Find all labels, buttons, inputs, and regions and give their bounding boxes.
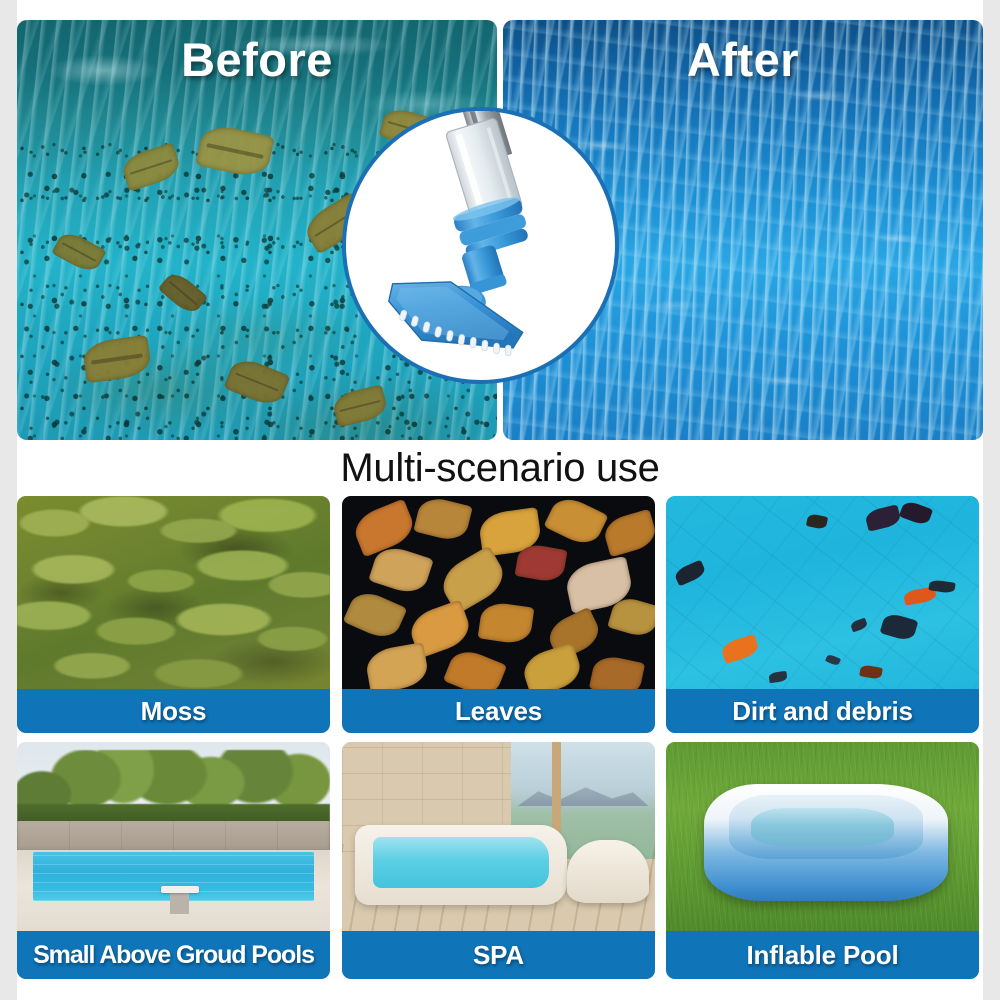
concrete-wall [17,821,330,851]
pool-basin-water [751,808,895,846]
scenario-caption: SPA [342,931,655,979]
scenario-caption: Moss [17,689,330,733]
leaves-scene [342,496,655,689]
freestanding-bathtub [567,840,648,902]
scenario-thumbnail [666,496,979,689]
scenario-thumbnail [17,742,330,931]
scenario-caption: Small Above Groud Pools [17,931,330,979]
pool-vacuum-icon [346,111,615,380]
scenario-card-small-above-ground-pools[interactable]: Small Above Groud Pools [17,742,330,979]
scenario-thumbnail [342,742,655,931]
scenario-thumbnail [17,496,330,689]
scenario-grid: Moss [17,496,983,980]
scenario-card-leaves[interactable]: Leaves [342,496,655,733]
infographic-page: Before After [17,0,983,1000]
diving-board [161,886,199,894]
section-title: Multi-scenario use [17,446,983,491]
dirt-debris-scene [666,496,979,689]
spa-water [373,837,548,888]
scenario-caption: Inflable Pool [666,931,979,979]
scenario-card-inflatable-pool[interactable]: Inflable Pool [666,742,979,979]
outdoor-pool-scene [17,742,330,931]
scenario-caption: Dirt and debris [666,689,979,733]
scenario-card-spa[interactable]: SPA [342,742,655,979]
moss-scene [17,496,330,689]
scenario-card-dirt-and-debris[interactable]: Dirt and debris [666,496,979,733]
product-highlight-circle [342,107,619,384]
after-label: After [503,32,983,87]
diving-board-base [170,893,189,914]
inflatable-pool-scene [666,742,979,931]
algae-mats [17,496,330,689]
scenario-thumbnail [342,496,655,689]
before-label: Before [17,32,497,87]
scenario-card-moss[interactable]: Moss [17,496,330,733]
scenario-thumbnail [666,742,979,931]
indoor-spa-scene [342,742,655,931]
scenario-caption: Leaves [342,689,655,733]
